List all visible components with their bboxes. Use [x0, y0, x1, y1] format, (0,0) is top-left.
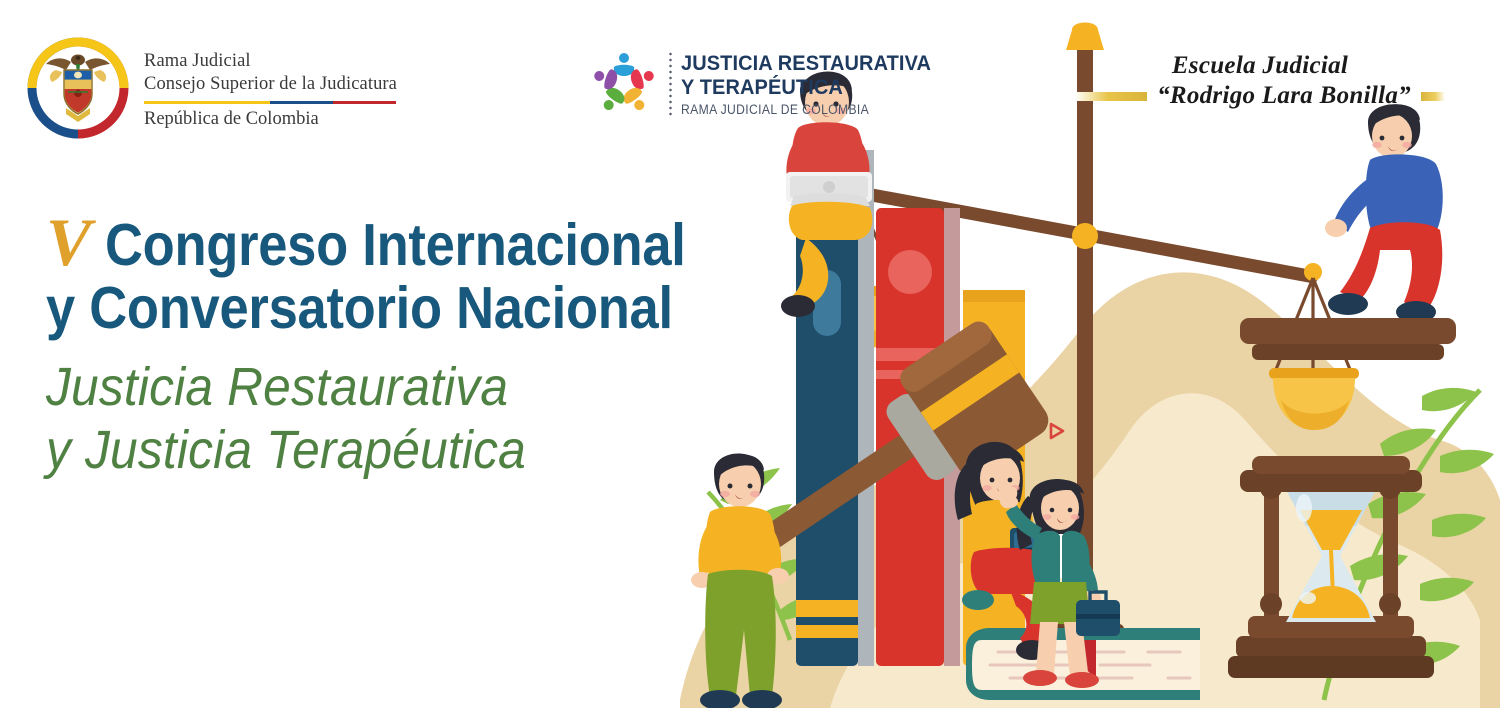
jrt-subline: RAMA JUDICIAL DE COLOMBIA — [681, 103, 923, 117]
tricolor-yellow — [144, 101, 270, 104]
title-sub-line-2: y Justicia Terapéutica — [46, 419, 701, 482]
tricolor-divider — [144, 101, 396, 104]
escuela-line-2: “Rodrigo Lara Bonilla” — [1157, 82, 1411, 110]
title-sub-line-1: Justicia Restaurativa — [46, 356, 701, 419]
dotted-divider — [669, 51, 672, 117]
colombia-coat-of-arms-ring-icon — [26, 36, 130, 140]
title-main-line-2: y Conversatorio Nacional — [46, 277, 679, 340]
congress-banner: Rama Judicial Consejo Superior de la Jud… — [0, 0, 1500, 708]
jrt-line-2: Y TERAPÉUTICA — [681, 75, 931, 99]
ordinal-v: V — [46, 212, 91, 273]
tricolor-red — [333, 101, 396, 104]
header-logos-bar: Rama Judicial Consejo Superior de la Jud… — [0, 0, 1500, 150]
people-circle-icon — [588, 48, 660, 120]
rama-line-3: República de Colombia — [144, 109, 397, 130]
rama-line-2: Consejo Superior de la Judicatura — [144, 73, 397, 96]
tricolor-blue — [270, 101, 333, 104]
rama-judicial-logo: Rama Judicial Consejo Superior de la Jud… — [26, 36, 397, 140]
justicia-restaurativa-logo: JUSTICIA RESTAURATIVA Y TERAPÉUTICA RAMA… — [588, 48, 950, 120]
jrt-line-1: JUSTICIA RESTAURATIVA — [681, 51, 931, 75]
gold-bar-right — [1421, 92, 1445, 101]
hourglass-top-ledge — [1240, 318, 1456, 360]
escuela-line-1: Escuela Judicial — [1060, 52, 1460, 80]
title-block: V Congreso Internacional y Conversatorio… — [46, 212, 758, 483]
rama-line-1: Rama Judicial — [144, 50, 397, 73]
gold-bar-left — [1075, 92, 1147, 101]
title-main-line-1: Congreso Internacional — [105, 214, 686, 277]
escuela-judicial-logo: Escuela Judicial “Rodrigo Lara Bonilla” — [1060, 52, 1460, 110]
